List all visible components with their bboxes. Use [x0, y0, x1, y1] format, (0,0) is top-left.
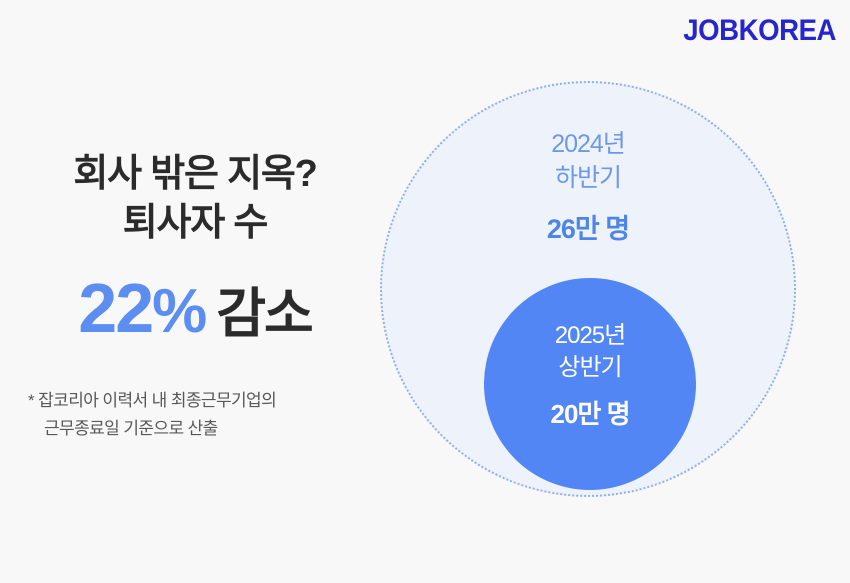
outer-circle-half: 하반기 [382, 162, 794, 196]
outer-circle-period-label: 2024년 하반기 [382, 128, 794, 196]
statistic-percent-sign: % [152, 277, 206, 346]
footnote-line-1: * 잡코리아 이력서 내 최종근무기업의 [28, 387, 390, 415]
left-text-panel: 회사 밖은 지옥? 퇴사자 수 22%감소 * 잡코리아 이력서 내 최종근무기… [0, 150, 390, 442]
inner-circle-2025: 2025년 상반기 20만 명 [484, 278, 696, 490]
key-statistic: 22%감소 [0, 273, 390, 343]
jobkorea-logo: JOBKOREA [683, 16, 836, 46]
outer-circle-value: 26만 명 [382, 207, 794, 246]
footnote-line-2: 근무종료일 기준으로 산출 [28, 415, 390, 443]
footnote: * 잡코리아 이력서 내 최종근무기업의 근무종료일 기준으로 산출 [0, 387, 390, 442]
outer-circle-year: 2024년 [382, 128, 794, 162]
page-title: 회사 밖은 지옥? 퇴사자 수 [0, 150, 390, 247]
statistic-number: 22 [78, 269, 152, 347]
inner-circle-period-label: 2025년 상반기 [484, 320, 696, 383]
statistic-descriptor: 감소 [216, 284, 311, 344]
inner-circle-value: 20만 명 [484, 394, 696, 431]
headline-line-1: 회사 밖은 지옥? [0, 150, 390, 199]
headline-line-2: 퇴사자 수 [0, 199, 390, 248]
inner-circle-half: 상반기 [484, 352, 696, 384]
inner-circle-year: 2025년 [484, 320, 696, 352]
infographic-canvas: JOBKOREA 회사 밖은 지옥? 퇴사자 수 22%감소 * 잡코리아 이력… [0, 0, 850, 583]
